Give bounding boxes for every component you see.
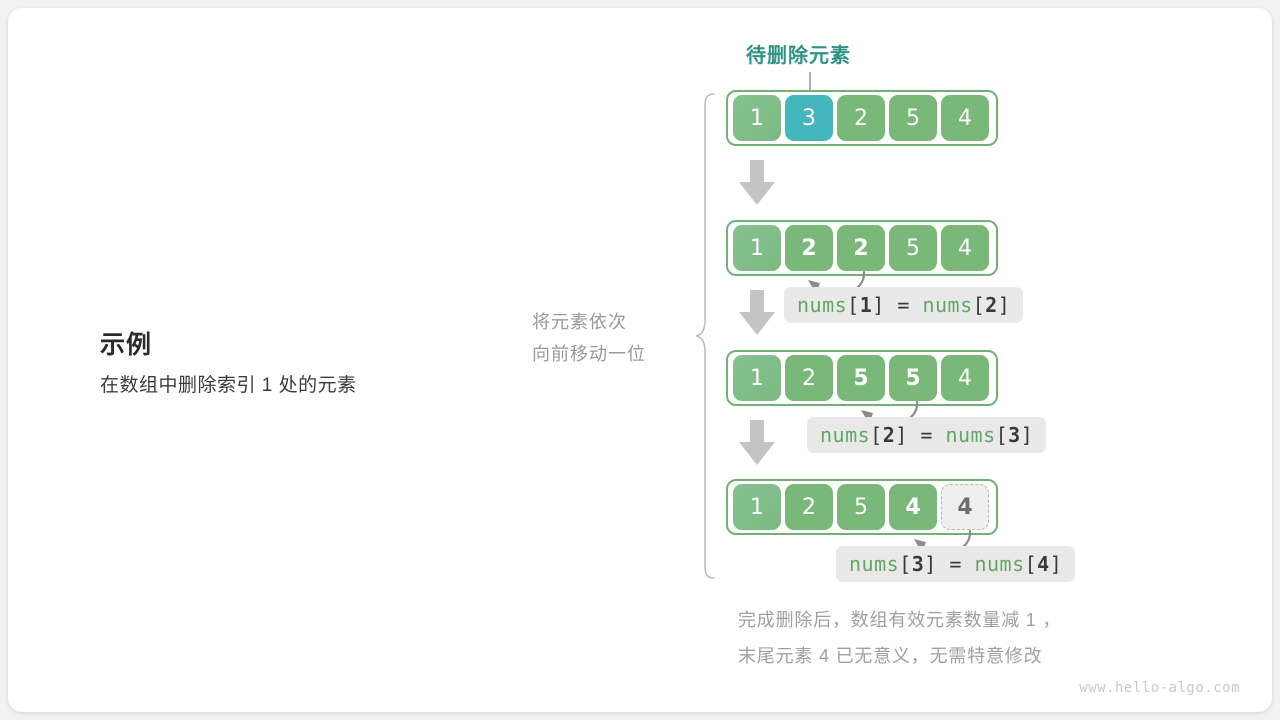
diagram-canvas: 示例 在数组中删除索引 1 处的元素 将元素依次 向前移动一位 待删除元素 1 …: [0, 0, 1280, 720]
code-assign-2: nums[2] = nums[3]: [807, 417, 1046, 453]
array-cell: 1: [733, 355, 781, 401]
array-cell-updated: 2: [785, 225, 833, 271]
caption-line-2: 末尾元素 4 已无意义，无需特意修改: [738, 638, 1208, 674]
array-cell: 2: [785, 355, 833, 401]
array-cell: 5: [889, 95, 937, 141]
code-index: 4: [1037, 552, 1050, 576]
array-cell-obsolete: 4: [941, 484, 989, 530]
diagram-card: 示例 在数组中删除索引 1 处的元素 将元素依次 向前移动一位 待删除元素 1 …: [8, 8, 1272, 712]
array-cell: 2: [785, 484, 833, 530]
array-cell: 1: [733, 225, 781, 271]
array-cell: 2: [837, 95, 885, 141]
down-arrow-icon: [739, 420, 775, 466]
array-cell: 5: [837, 484, 885, 530]
code-fn: nums: [945, 423, 995, 447]
down-arrow-icon: [739, 160, 775, 206]
delete-target-label: 待删除元素: [746, 39, 851, 68]
array-row-step1: 1 2 2 5 4: [726, 220, 998, 276]
code-fn: nums: [922, 293, 972, 317]
code-index: 3: [1008, 423, 1021, 447]
array-cell-highlighted: 3: [785, 95, 833, 141]
array-row-step2: 1 2 5 5 4: [726, 350, 998, 406]
code-assign-1: nums[1] = nums[2]: [784, 287, 1023, 323]
grouping-brace-icon: [694, 92, 716, 580]
code-index: 1: [860, 293, 873, 317]
array-cell: 1: [733, 95, 781, 141]
caption-line-1: 完成删除后，数组有效元素数量减 1 ，: [738, 602, 1208, 638]
array-cell-source: 2: [837, 225, 885, 271]
array-cell: 4: [941, 355, 989, 401]
bottom-caption: 完成删除后，数组有效元素数量减 1 ， 末尾元素 4 已无意义，无需特意修改: [738, 602, 1208, 674]
example-description: 在数组中删除索引 1 处的元素: [100, 372, 480, 400]
code-fn: nums: [820, 423, 870, 447]
array-cell-updated: 4: [889, 484, 937, 530]
code-operator: =: [920, 423, 933, 447]
array-cell: 5: [889, 225, 937, 271]
shift-note: 将元素依次 向前移动一位: [532, 306, 692, 370]
array-cell: 4: [941, 225, 989, 271]
code-index: 2: [883, 423, 896, 447]
code-operator: =: [897, 293, 910, 317]
shift-note-line-1: 将元素依次: [532, 306, 692, 338]
code-fn: nums: [849, 552, 899, 576]
code-index: 2: [985, 293, 998, 317]
down-arrow-icon: [739, 290, 775, 336]
array-cell: 4: [941, 95, 989, 141]
code-index: 3: [912, 552, 925, 576]
watermark: www.hello-algo.com: [1079, 680, 1240, 696]
array-cell-updated: 5: [837, 355, 885, 401]
array-row-initial: 1 3 2 5 4: [726, 90, 998, 146]
shift-note-line-2: 向前移动一位: [532, 338, 692, 370]
array-cell: 1: [733, 484, 781, 530]
code-fn: nums: [974, 552, 1024, 576]
code-assign-3: nums[3] = nums[4]: [836, 546, 1075, 582]
example-title: 示例: [100, 328, 480, 362]
code-fn: nums: [797, 293, 847, 317]
code-operator: =: [949, 552, 962, 576]
array-cell-source: 5: [889, 355, 937, 401]
array-row-step3: 1 2 5 4 4: [726, 479, 998, 535]
example-block: 示例 在数组中删除索引 1 处的元素: [100, 328, 480, 400]
